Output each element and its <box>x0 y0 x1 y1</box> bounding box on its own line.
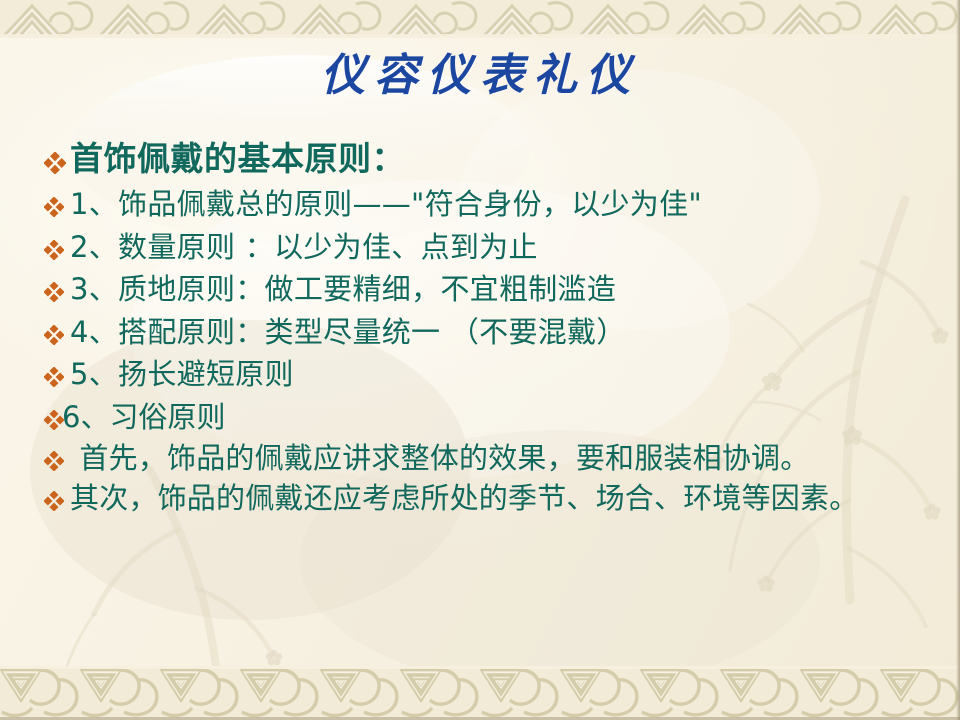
list-item-text: 2、数量原则 ：以少为佳、点到为止 <box>70 228 934 267</box>
bottom-border-ornament <box>0 666 960 720</box>
list-item-text: 5、扬长避短原则 <box>70 355 934 394</box>
slide-title: 仪容仪表礼仪 <box>0 52 960 100</box>
diamond-cluster-bullet-icon <box>44 228 70 260</box>
list-item-text: 3、质地原则：做工要精细，不宜粗制滥造 <box>70 270 934 309</box>
diamond-cluster-bullet-icon <box>44 440 70 471</box>
list-item-text: 6、习俗原则 <box>62 398 934 437</box>
paragraph-item-2: 其次，饰品的佩戴还应考虑所处的季节、场合、环境等因素。 <box>44 480 934 518</box>
list-item-heading: 首饰佩戴的基本原则： <box>44 140 934 179</box>
diamond-cluster-bullet-icon <box>44 313 70 345</box>
slide-body: 首饰佩戴的基本原则： 1、饰品佩戴总的原则——"符合身份，以少为佳" <box>44 140 934 520</box>
list-item-text: 4、搭配原则：类型尽量统一 （不要混戴） <box>70 313 934 352</box>
top-border-ornament <box>0 0 960 38</box>
diamond-cluster-bullet-icon <box>44 398 62 430</box>
list-item-5: 5、扬长避短原则 <box>44 355 934 394</box>
list-item-2: 2、数量原则 ：以少为佳、点到为止 <box>44 228 934 267</box>
diamond-cluster-bullet-icon <box>44 140 70 174</box>
list-item-6: 6、习俗原则 <box>44 398 934 437</box>
right-edge-shadow <box>956 0 960 720</box>
paragraph-item-1: 首先，饰品的佩戴应讲求整体的效果，要和服装相协调。 <box>44 440 934 478</box>
paragraph-text: 首先，饰品的佩戴应讲求整体的效果，要和服装相协调。 <box>70 440 920 478</box>
slide-canvas: 仪容仪表礼仪 首饰佩戴的基本原则： <box>0 0 960 720</box>
list-item-text: 1、饰品佩戴总的原则——"符合身份，以少为佳" <box>70 185 934 224</box>
heading-text: 首饰佩戴的基本原则： <box>70 140 934 179</box>
diamond-cluster-bullet-icon <box>44 270 70 302</box>
list-item-1: 1、饰品佩戴总的原则——"符合身份，以少为佳" <box>44 185 934 224</box>
list-item-4: 4、搭配原则：类型尽量统一 （不要混戴） <box>44 313 934 352</box>
list-item-3: 3、质地原则：做工要精细，不宜粗制滥造 <box>44 270 934 309</box>
diamond-cluster-bullet-icon <box>44 185 70 217</box>
diamond-cluster-bullet-icon <box>44 355 70 387</box>
diamond-cluster-bullet-icon <box>44 480 70 511</box>
paragraph-text: 其次，饰品的佩戴还应考虑所处的季节、场合、环境等因素。 <box>70 480 920 518</box>
